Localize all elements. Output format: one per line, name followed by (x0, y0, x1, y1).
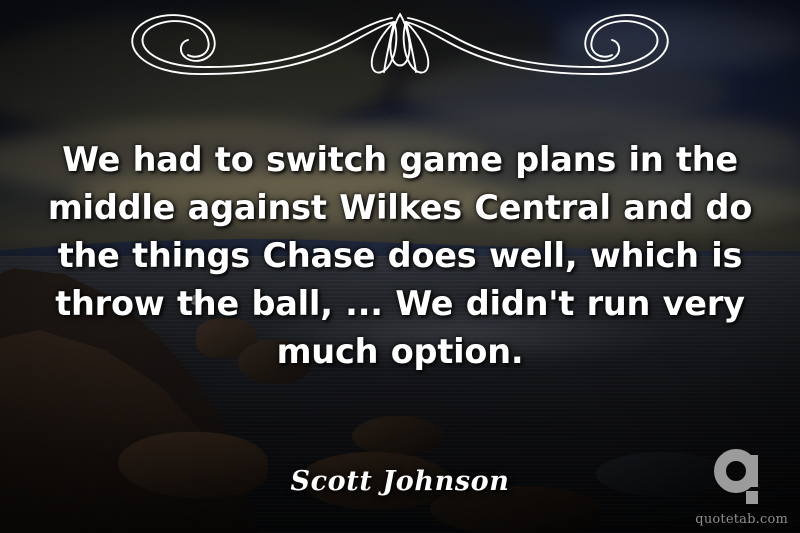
watermark-site-label[interactable]: quotetab.com (678, 512, 788, 527)
card-content: We had to switch game plans in the middl… (0, 0, 800, 533)
quote-line: the things Chase does well, which is (58, 236, 743, 275)
quote-line: much option. (277, 332, 524, 371)
quotetab-logo-icon[interactable] (714, 449, 772, 505)
quote-card: We had to switch game plans in the middl… (0, 0, 800, 533)
quote-line: middle against Wilkes Central and do (48, 188, 752, 227)
logo-stem (746, 455, 758, 487)
watermark[interactable]: quotetab.com (678, 449, 788, 527)
quote-line: throw the ball, ... We didn't run very (55, 284, 745, 323)
quote-text: We had to switch game plans in the middl… (40, 136, 760, 376)
logo-dot (746, 491, 758, 504)
quote-line: We had to switch game plans in the (62, 140, 738, 179)
flourish-divider-icon (80, 2, 720, 86)
